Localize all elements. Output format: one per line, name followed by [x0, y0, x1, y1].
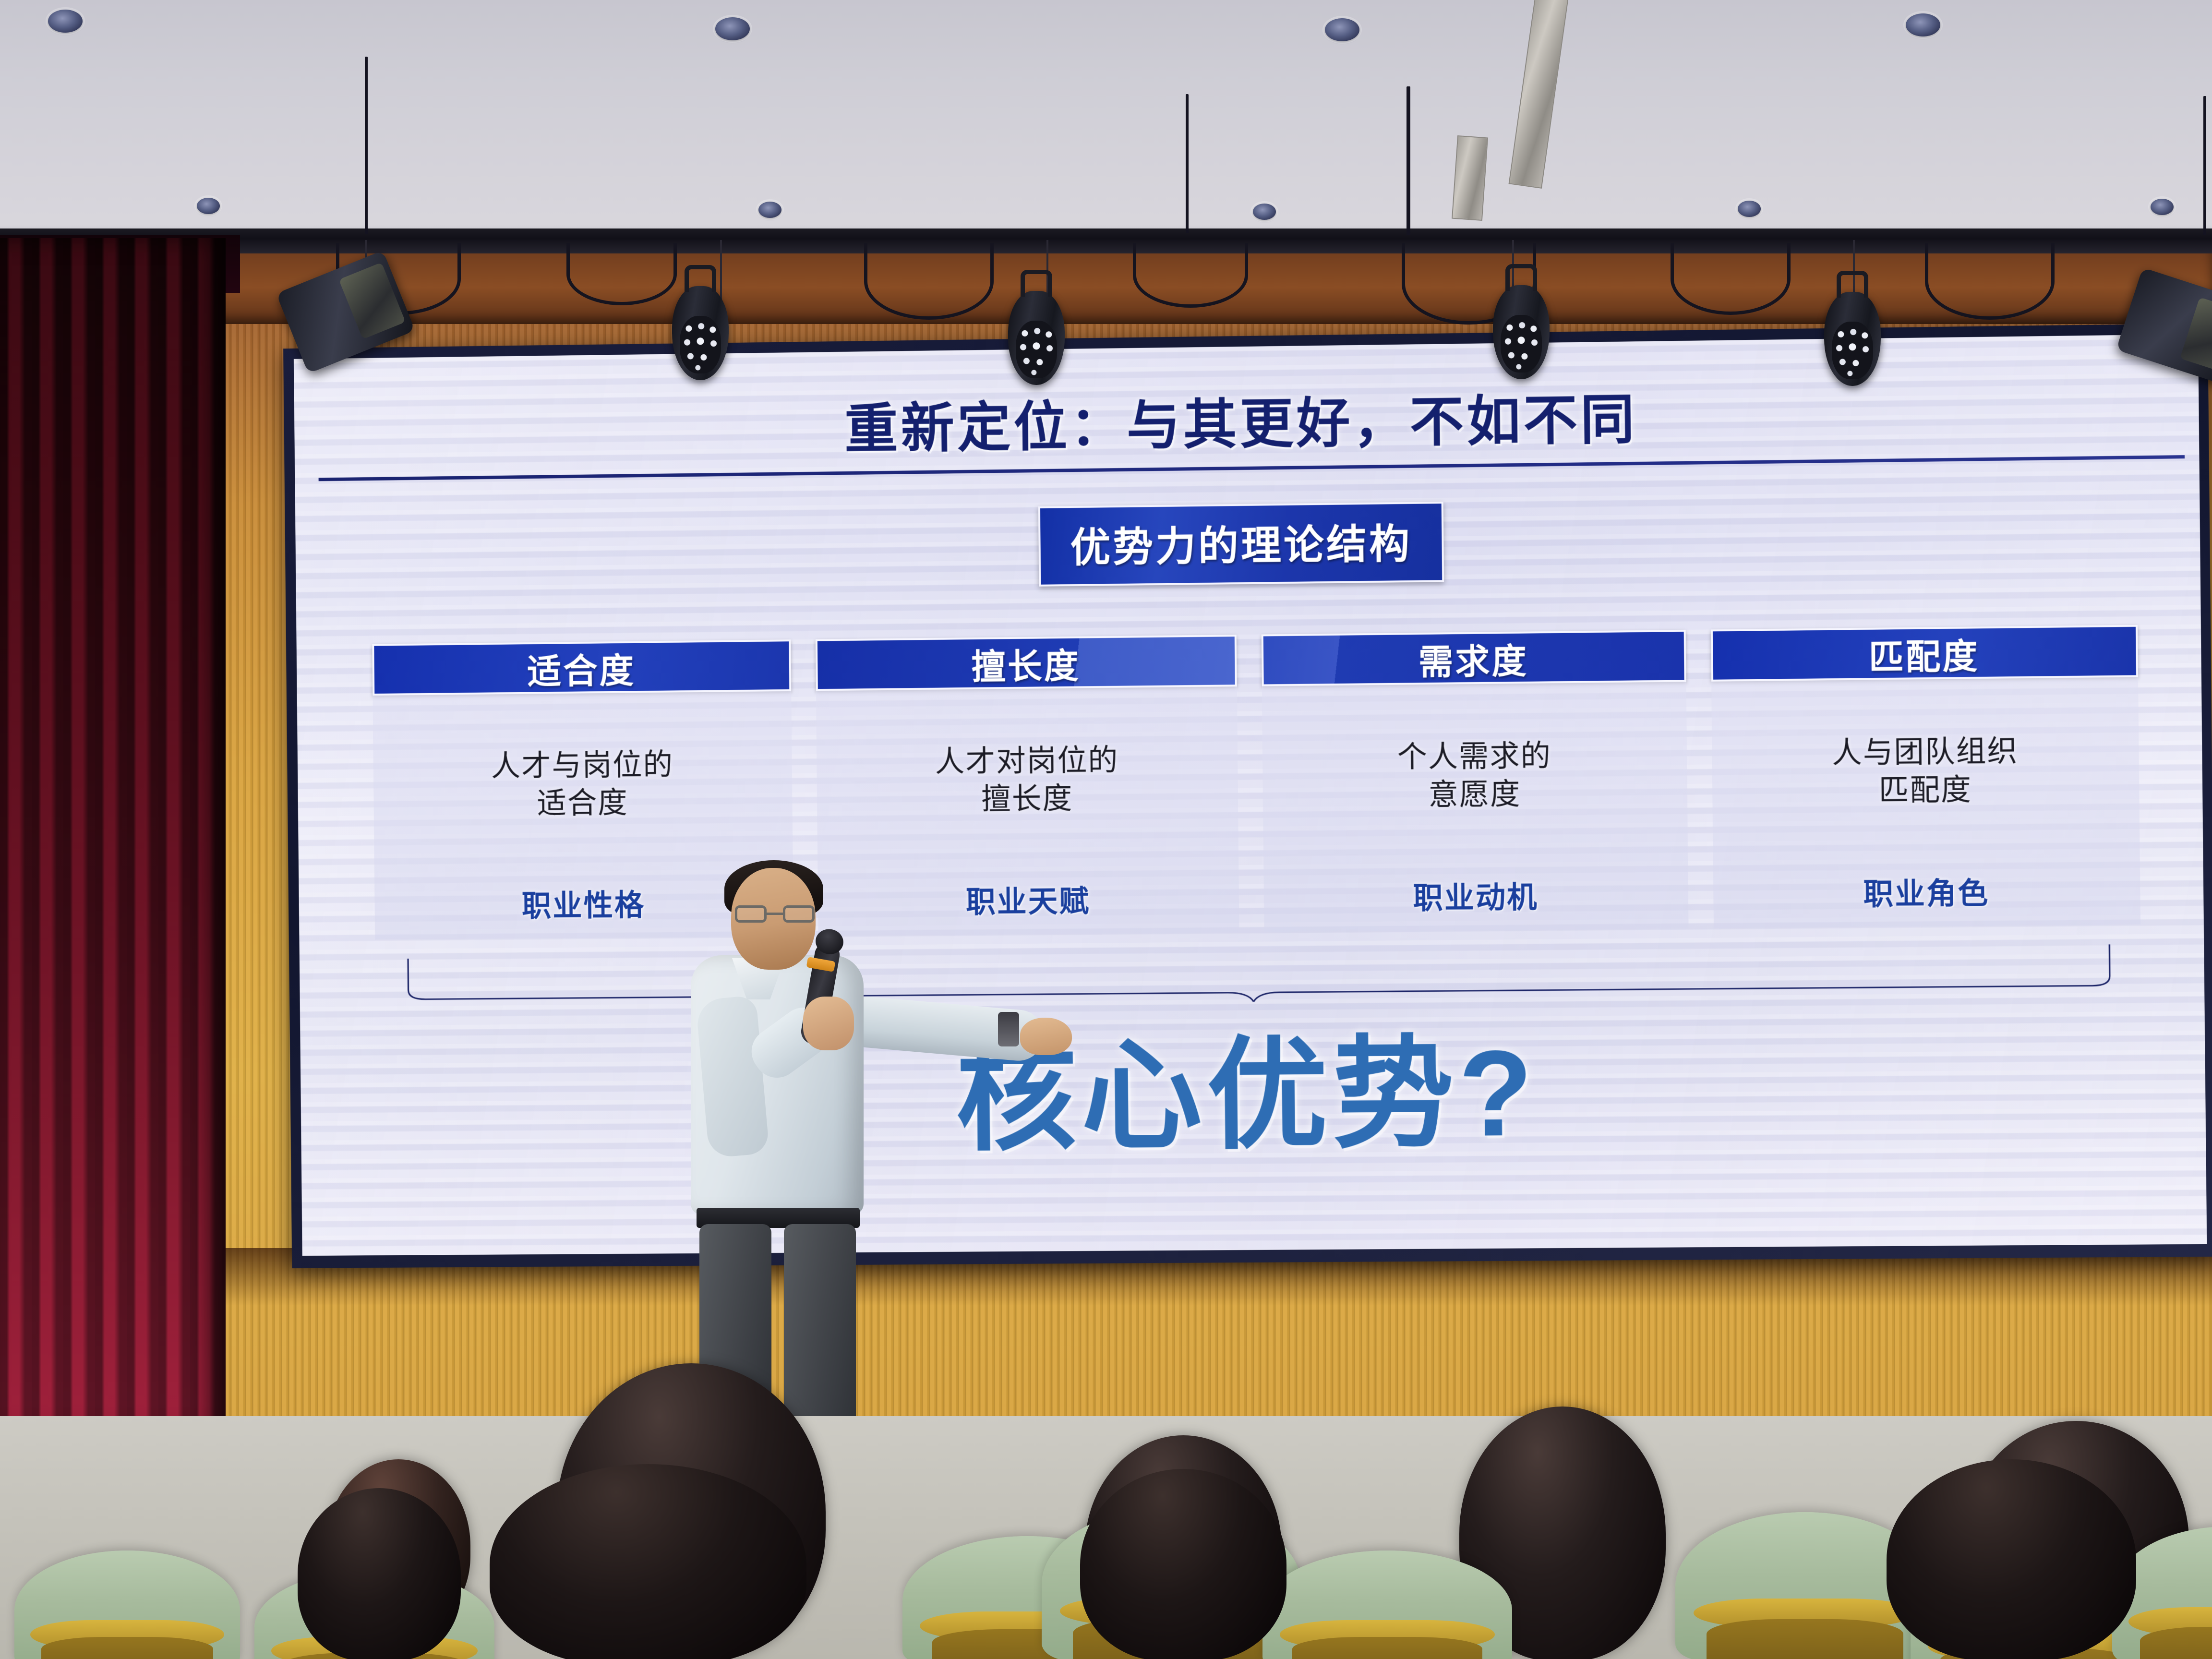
cable-icon: [1671, 243, 1791, 315]
ceiling-vent: [1452, 135, 1488, 221]
ceiling-downlight-icon: [1738, 201, 1761, 217]
glasses-icon: [735, 905, 815, 923]
column-description: 人才与岗位的 适合度: [373, 745, 792, 824]
ceiling-downlight-icon: [1906, 13, 1940, 36]
column-header: 适合度: [372, 639, 791, 696]
column-header: 擅长度: [815, 635, 1237, 691]
lighting-truss: [0, 228, 2212, 253]
column-header-label: 匹配度: [1868, 627, 1979, 679]
chair-cushion: [1707, 1619, 1903, 1659]
stage-light-lens: [1832, 322, 1873, 379]
ceiling-downlight-icon: [1325, 18, 1359, 41]
slide-banner-label: 优势力的理论结构: [1070, 521, 1412, 570]
audience-head: [490, 1464, 806, 1659]
ceiling-downlight-icon: [197, 198, 220, 214]
column-description-line2: 适合度: [373, 783, 792, 825]
column-description: 人才对岗位的 擅长度: [816, 740, 1238, 820]
stage-light-yoke: [1505, 264, 1537, 291]
led-screen-frame: 重新定位：与其更好，不如不同 优势力的理论结构 适合度 人才与岗位的 适合度: [283, 323, 2212, 1268]
column-body: 个人需求的 意愿度 职业动机: [1262, 682, 1688, 932]
presenter-watch: [998, 1012, 1019, 1046]
stage-light-fixture: [672, 286, 729, 380]
column-description-line1: 人才对岗位的: [816, 740, 1238, 782]
stage-light-fixture: [1824, 292, 1881, 386]
framework-column: 匹配度 人与团队组织 匹配度 职业角色: [1710, 625, 2140, 928]
stage-curtain: [0, 238, 226, 1505]
ceiling-downlight-icon: [48, 10, 83, 33]
column-description: 个人需求的 意愿度: [1262, 736, 1687, 817]
vertical-cable: [2203, 96, 2206, 235]
slide-banner: 优势力的理论结构: [1038, 502, 1444, 587]
column-tag: 职业角色: [1713, 867, 2140, 914]
cable-icon: [1133, 243, 1248, 308]
audience-head: [1887, 1459, 2136, 1659]
stage-light-yoke: [1021, 270, 1052, 297]
presenter-mic-hand: [803, 997, 854, 1050]
audience-head: [1080, 1469, 1286, 1659]
column-tag: 职业动机: [1264, 872, 1688, 919]
vertical-cable: [1407, 86, 1410, 235]
presenter-leg: [784, 1224, 856, 1426]
vertical-cable: [365, 57, 368, 234]
stage-light-lens: [680, 316, 721, 373]
framework-columns: 适合度 人才与岗位的 适合度 职业性格 擅长度: [372, 625, 2140, 940]
cable-icon: [864, 243, 994, 320]
ceiling-downlight-icon: [758, 202, 781, 218]
column-header-label: 需求度: [1418, 632, 1528, 684]
stage-light-yoke: [685, 265, 716, 292]
column-header-label: 适合度: [527, 642, 636, 693]
column-header-label: 擅长度: [971, 637, 1081, 688]
stage-light-fixture: [1493, 285, 1550, 379]
stage-light-yoke: [1837, 271, 1868, 298]
led-screen: 重新定位：与其更好，不如不同 优势力的理论结构 适合度 人才与岗位的 适合度: [294, 334, 2207, 1256]
ceiling-downlight-icon: [715, 17, 750, 40]
framework-column: 需求度 个人需求的 意愿度 职业动机: [1262, 630, 1688, 932]
column-description-line2: 擅长度: [817, 778, 1238, 820]
chair-cushion: [1292, 1637, 1482, 1659]
cable-icon: [1925, 243, 2055, 320]
stage-light-lens: [1016, 321, 1057, 378]
slide-title: 重新定位：与其更好，不如不同: [294, 369, 2200, 470]
cable-icon: [566, 243, 677, 305]
ceiling-downlight-icon: [2151, 199, 2174, 215]
column-description-line1: 人才与岗位的: [373, 745, 792, 787]
audience-head: [298, 1488, 461, 1659]
auditorium-scene: 重新定位：与其更好，不如不同 优势力的理论结构 适合度 人才与岗位的 适合度: [0, 0, 2212, 1659]
chair-cushion: [41, 1637, 213, 1659]
column-description-line1: 个人需求的: [1262, 736, 1687, 778]
column-header: 需求度: [1262, 630, 1686, 686]
presenter: [650, 859, 1054, 1426]
stage-light-lens: [1501, 315, 1542, 373]
column-description: 人与团队组织 匹配度: [1712, 731, 2140, 812]
stage-light-fixture: [1008, 291, 1065, 385]
column-header: 匹配度: [1710, 625, 2138, 682]
ceiling: [0, 0, 2212, 242]
column-description-line2: 意愿度: [1263, 774, 1687, 816]
stage-light-lens: [2180, 297, 2212, 373]
column-description-line1: 人与团队组织: [1712, 731, 2139, 774]
vertical-cable: [1186, 94, 1189, 233]
ceiling-downlight-icon: [1253, 204, 1276, 220]
column-description-line2: 匹配度: [1712, 769, 2139, 812]
core-advantage-question: 核心优势?: [300, 989, 2206, 1178]
presenter-pointing-hand: [1020, 1018, 1072, 1055]
column-body: 人与团队组织 匹配度 职业角色: [1711, 677, 2141, 928]
